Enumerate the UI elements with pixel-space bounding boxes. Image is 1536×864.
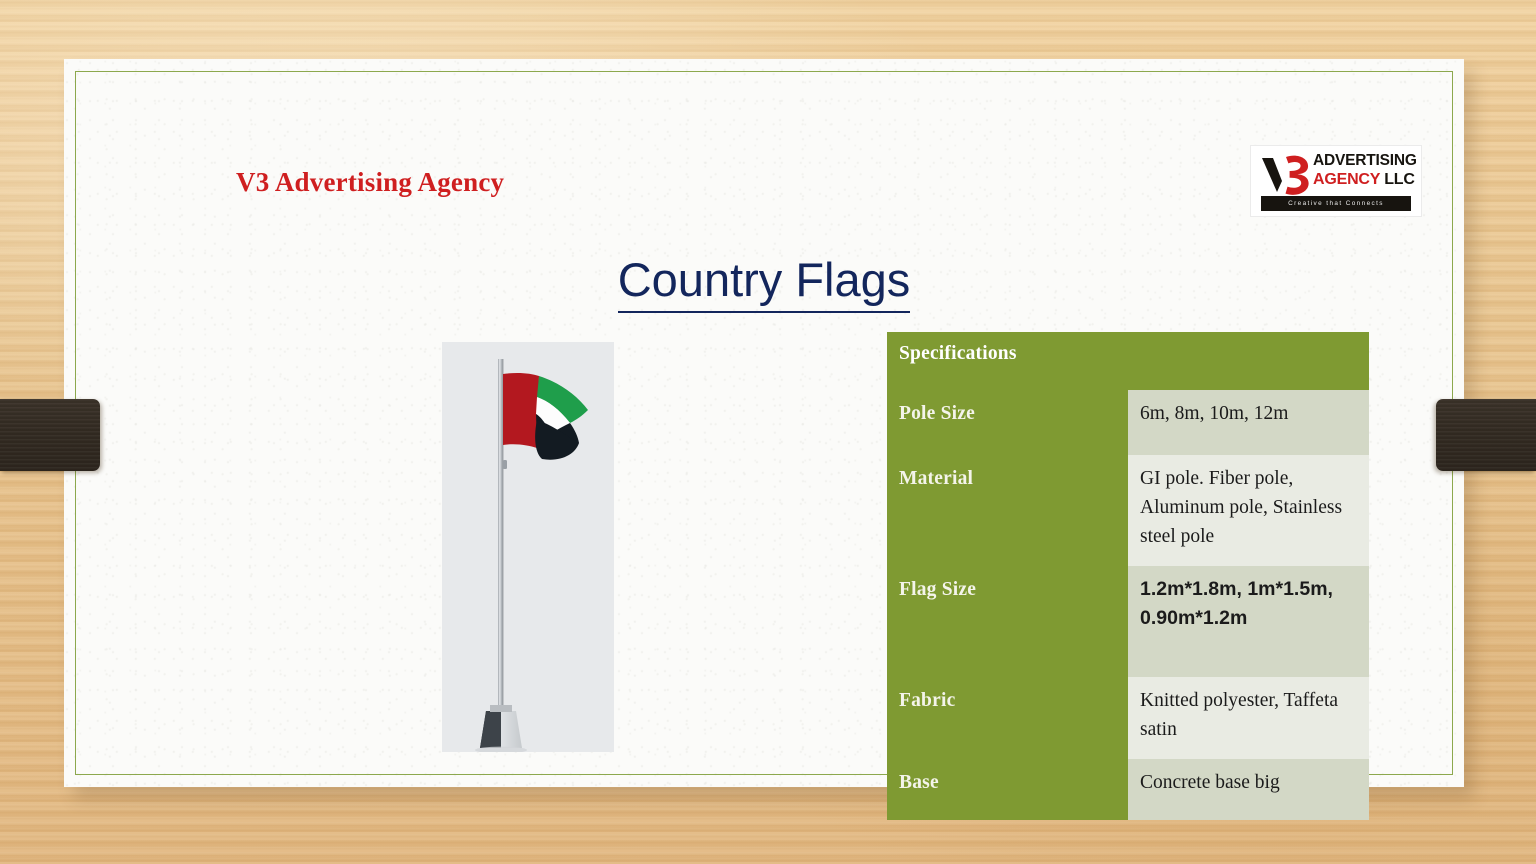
logo-tagline: Creative that Connects — [1261, 196, 1411, 211]
flagpole-illustration-icon — [442, 342, 614, 752]
ribbon-strap-left — [0, 399, 100, 471]
row-label-fabric: Fabric — [887, 677, 1128, 759]
table-row: Material GI pole. Fiber pole, Aluminum p… — [887, 455, 1369, 566]
presentation-slide: V3 Advertising Agency ADVERTISING AGENCY… — [64, 59, 1464, 787]
logo-wordmark: ADVERTISING AGENCY LLC — [1313, 152, 1417, 189]
page-title: Country Flags — [64, 252, 1464, 307]
row-label-flag-size: Flag Size — [887, 566, 1128, 677]
row-label-base: Base — [887, 759, 1128, 820]
table-row: Pole Size 6m, 8m, 10m, 12m — [887, 390, 1369, 455]
row-value-flag-size: 1.2m*1.8m, 1m*1.5m, 0.90m*1.2m — [1128, 566, 1369, 677]
row-label-pole-size: Pole Size — [887, 390, 1128, 455]
row-value-base: Concrete base big — [1128, 759, 1369, 820]
table-row: Fabric Knitted polyester, Taffeta satin — [887, 677, 1369, 759]
product-photo-flagpole — [442, 342, 614, 752]
table-row: Flag Size 1.2m*1.8m, 1m*1.5m, 0.90m*1.2m — [887, 566, 1369, 677]
row-label-material: Material — [887, 455, 1128, 566]
specifications-table: Specifications Pole Size 6m, 8m, 10m, 12… — [887, 332, 1369, 820]
page-title-text: Country Flags — [618, 253, 911, 313]
table-row: Base Concrete base big — [887, 759, 1369, 820]
logo-agency-text: AGENCY — [1313, 171, 1380, 188]
table-header-specifications: Specifications — [887, 332, 1369, 390]
ribbon-strap-right — [1436, 399, 1536, 471]
row-value-pole-size: 6m, 8m, 10m, 12m — [1128, 390, 1369, 455]
row-value-material: GI pole. Fiber pole, Aluminum pole, Stai… — [1128, 455, 1369, 566]
company-logo: ADVERTISING AGENCY LLC Creative that Con… — [1250, 145, 1422, 217]
table-header-row: Specifications — [887, 332, 1369, 390]
logo-line-advertising: ADVERTISING — [1313, 152, 1417, 170]
logo-llc-text: LLC — [1380, 171, 1415, 188]
row-value-fabric: Knitted polyester, Taffeta satin — [1128, 677, 1369, 759]
v3-logo-mark-icon — [1259, 154, 1311, 196]
logo-line-agency-llc: AGENCY LLC — [1313, 170, 1417, 189]
agency-name-heading: V3 Advertising Agency — [236, 167, 504, 198]
